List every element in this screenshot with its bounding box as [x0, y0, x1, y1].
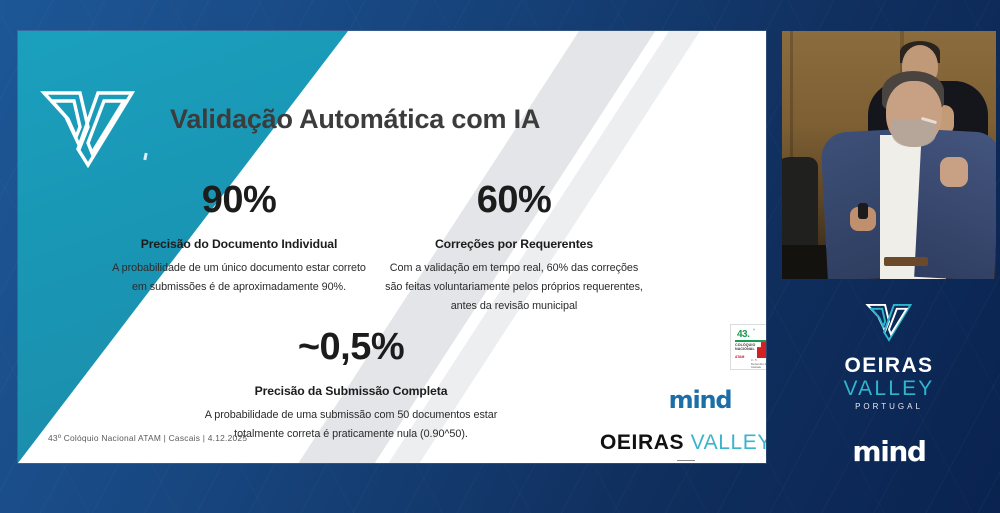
- badge-flag-shape: [757, 342, 766, 358]
- brand-panel: OEIRAS VALLEY PORTUGAL mind: [782, 288, 996, 463]
- stat-block-document-accuracy: 90% Precisão do Documento Individual A p…: [110, 181, 368, 297]
- stat-block-full-submission-accuracy: ~0,5% Precisão da Submissão Completa A p…: [186, 328, 516, 444]
- speaker-raised-fist: [940, 157, 968, 187]
- speaker-beard: [892, 119, 936, 147]
- stat-heading: Correções por Requerentes: [380, 237, 648, 251]
- stat-heading: Precisão da Submissão Completa: [186, 384, 516, 398]
- portugal-word: PORTUGAL: [782, 402, 996, 411]
- badge-atam-word: ATAM: [735, 355, 744, 359]
- stat-body: Com a validação em tempo real, 60% das c…: [380, 259, 648, 316]
- stat-body: A probabilidade de um único documento es…: [110, 259, 368, 297]
- stat-block-requester-corrections: 60% Correções por Requerentes Com a vali…: [380, 181, 648, 316]
- valley-word: VALLEY: [782, 377, 996, 400]
- stat-value: ~0,5%: [186, 328, 516, 366]
- atam-colloquium-badge: 43. º COLÓQUIO NACIONAL ATAM 3 - 5 Dezem…: [730, 324, 766, 370]
- chair-left: [782, 157, 818, 249]
- mind-logo-slide: mind: [669, 386, 732, 414]
- oeiras-valley-v-icon: [40, 87, 136, 169]
- oeiras-valley-portugal-logo: OEIRAS VALLEY PORTUGAL: [782, 355, 996, 411]
- badge-rule: [735, 340, 766, 342]
- slide-footer-text: 43º Colóquio Nacional ATAM | Cascais | 4…: [48, 433, 247, 443]
- badge-coloquio: COLÓQUIO: [735, 343, 755, 347]
- oeiras-valley-v-icon: [862, 302, 916, 342]
- presentation-screen: Validação Automática com IA 90% Precisão…: [0, 0, 1000, 513]
- oeiras-valley-logo-slide: OEIRAS VALLEY MUNICÍPIO OEIRAS: [600, 431, 766, 463]
- badge-dates: 3 - 5 Dezembro 2025 Cascais: [751, 359, 766, 370]
- oeiras-word: OEIRAS: [782, 355, 996, 377]
- slide-title: Validação Automática com IA: [170, 104, 540, 135]
- oeiras-word: OEIRAS: [600, 431, 684, 454]
- badge-city: Cascais: [751, 365, 761, 369]
- stat-value: 60%: [380, 181, 648, 219]
- badge-line-1: COLÓQUIO NACIONAL: [735, 343, 755, 352]
- slide-panel[interactable]: Validação Automática com IA 90% Precisão…: [18, 31, 766, 463]
- badge-nacional: NACIONAL: [735, 347, 755, 351]
- valley-word: VALLEY: [691, 431, 766, 454]
- speaker-belt: [884, 257, 928, 266]
- presentation-clicker: [858, 203, 868, 219]
- badge-ordinal: º: [753, 328, 755, 334]
- badge-number: 43.: [737, 329, 749, 340]
- stat-heading: Precisão do Documento Individual: [110, 237, 368, 251]
- logo-divider: [677, 460, 695, 461]
- mind-logo-panel: mind: [782, 435, 996, 468]
- speaker-video-feed[interactable]: [782, 31, 996, 279]
- oeiras-valley-wordmark: OEIRAS VALLEY: [600, 431, 766, 455]
- stat-value: 90%: [110, 181, 368, 219]
